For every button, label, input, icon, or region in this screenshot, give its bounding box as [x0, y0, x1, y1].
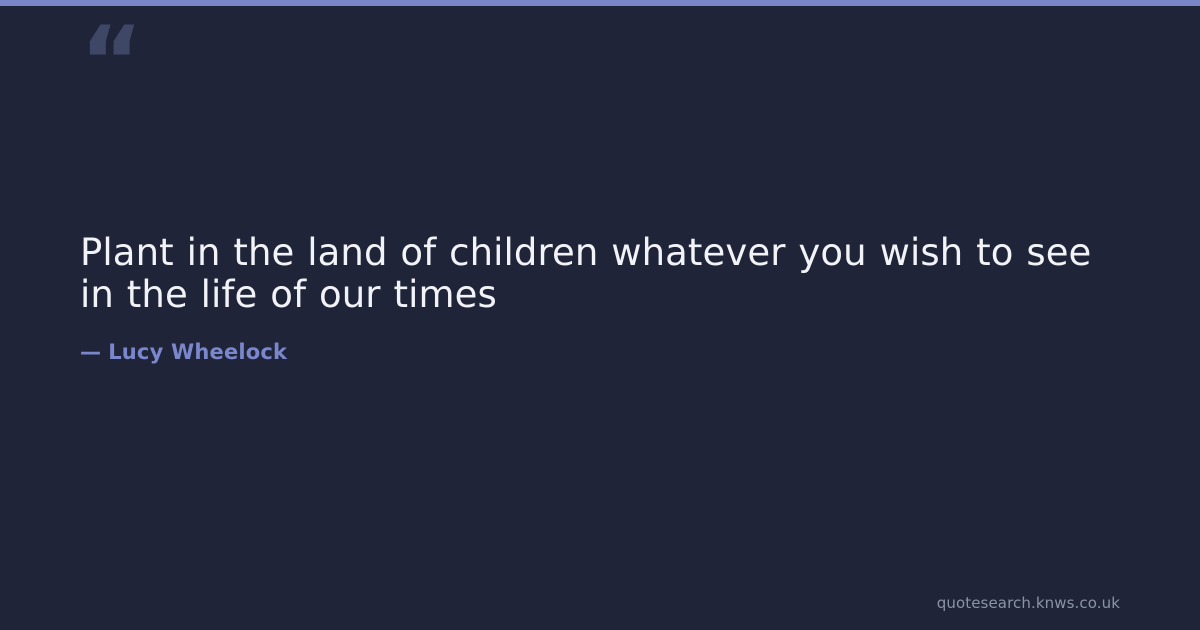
- quote-body: Plant in the land of children whatever y…: [80, 232, 1100, 366]
- attribution-dash: —: [80, 338, 108, 366]
- quote-text: Plant in the land of children whatever y…: [80, 232, 1100, 316]
- top-accent-bar: [0, 0, 1200, 6]
- quotation-mark-icon: “: [80, 14, 141, 110]
- attribution-author: Lucy Wheelock: [108, 340, 287, 364]
- quote-card: “ Plant in the land of children whatever…: [0, 0, 1200, 630]
- source-url: quotesearch.knws.co.uk: [937, 593, 1120, 613]
- quote-attribution: —Lucy Wheelock: [80, 316, 1100, 366]
